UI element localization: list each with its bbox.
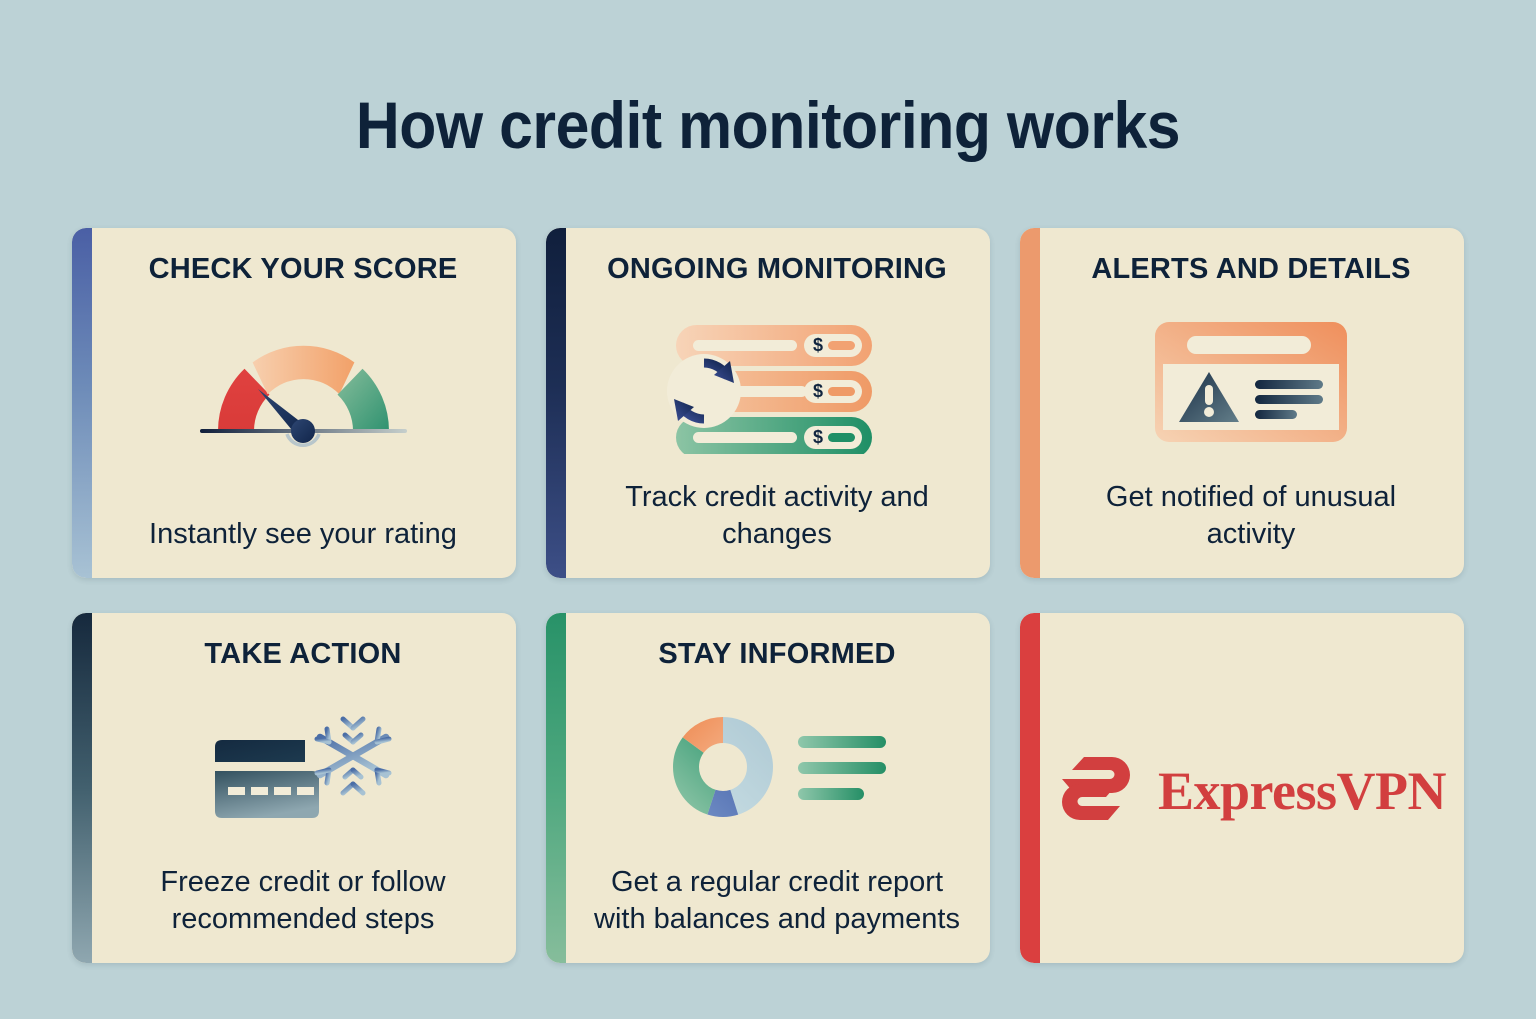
- expressvpn-logo-icon: [1056, 753, 1136, 830]
- cards-grid: CHECK YOUR SCORE: [72, 228, 1464, 963]
- svg-text:$: $: [813, 335, 823, 355]
- expressvpn-brand: ExpressVPN: [1060, 639, 1442, 943]
- card-caption: Get notified of unusual activity: [1060, 479, 1442, 558]
- card-heading: ALERTS AND DETAILS: [1091, 254, 1410, 284]
- card-accent-bar: [1020, 613, 1040, 963]
- card-heading: STAY INFORMED: [658, 639, 895, 669]
- expressvpn-wordmark: ExpressVPN: [1158, 764, 1446, 818]
- card-take-action[interactable]: TAKE ACTION: [72, 613, 516, 963]
- card-accent-bar: [72, 228, 92, 578]
- card-alerts-and-details[interactable]: ALERTS AND DETAILS: [1020, 228, 1464, 578]
- card-caption: Get a regular credit report with balance…: [586, 864, 968, 943]
- card-expressvpn-logo[interactable]: ExpressVPN: [1020, 613, 1464, 963]
- donut-chart-report-icon: [586, 669, 968, 863]
- card-heading: TAKE ACTION: [204, 639, 401, 669]
- card-heading: CHECK YOUR SCORE: [149, 254, 458, 284]
- svg-text:$: $: [813, 381, 823, 401]
- account-bars-refresh-icon: $ $ $: [586, 284, 968, 478]
- card-caption: Instantly see your rating: [149, 516, 457, 558]
- card-accent-bar: [546, 228, 566, 578]
- card-accent-bar: [72, 613, 92, 963]
- card-caption: Track credit activity and changes: [586, 479, 968, 558]
- card-heading: ONGOING MONITORING: [607, 254, 947, 284]
- card-caption: Freeze credit or follow recommended step…: [112, 864, 494, 943]
- infographic-root: How credit monitoring works CHECK YOUR S…: [0, 0, 1536, 1019]
- card-stay-informed[interactable]: STAY INFORMED: [546, 613, 990, 963]
- credit-score-gauge-icon: [112, 284, 494, 516]
- card-accent-bar: [546, 613, 566, 963]
- credit-card-snowflake-freeze-icon: [112, 669, 494, 863]
- svg-text:$: $: [813, 427, 823, 447]
- card-ongoing-monitoring[interactable]: ONGOING MONITORING: [546, 228, 990, 578]
- card-accent-bar: [1020, 228, 1040, 578]
- alert-window-warning-icon: [1060, 284, 1442, 478]
- page-title: How credit monitoring works: [61, 0, 1474, 158]
- card-check-your-score[interactable]: CHECK YOUR SCORE: [72, 228, 516, 578]
